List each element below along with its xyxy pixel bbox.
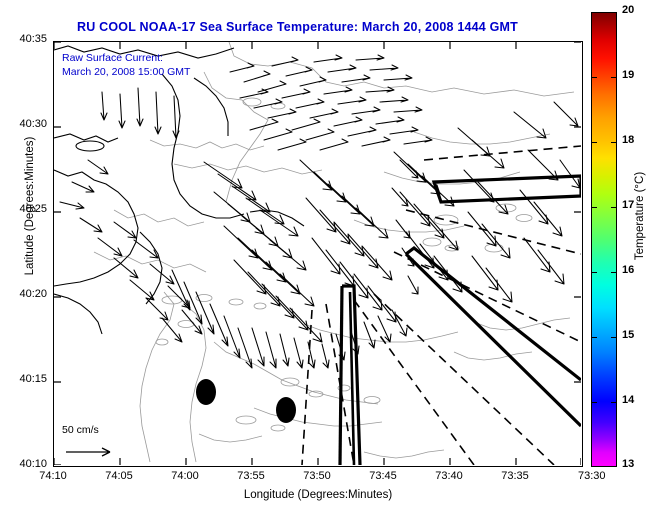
bathymetry-contours: [94, 42, 574, 462]
xtick-label: 73:30: [578, 470, 612, 482]
colorbar-tick-label: 15: [622, 329, 634, 341]
scale-key-label: 50 cm/s: [62, 424, 99, 436]
colorbar-label: Temperature (°C): [634, 136, 646, 296]
figure-title: RU COOL NOAA-17 Sea Surface Temperature:…: [0, 20, 595, 34]
xtick-label: 73:35: [485, 470, 545, 482]
lane-center-lines: [350, 292, 354, 465]
map-graphics: [54, 42, 581, 465]
colorbar-tick-label: 13: [622, 458, 634, 470]
colorbar-tick-label: 14: [622, 394, 634, 406]
colorbar-tick-label: 20: [622, 4, 634, 16]
xtick-label: 73:45: [353, 470, 413, 482]
x-axis-label: Longitude (Degrees:Minutes): [53, 489, 583, 501]
xtick-label: 74:10: [23, 470, 83, 482]
xtick-label: 73:50: [287, 470, 347, 482]
colorbar-tick-label: 16: [622, 264, 634, 276]
colorbar-tick-label: 17: [622, 199, 634, 211]
ytick-label: 40:15: [0, 373, 47, 385]
scale-key: 50 cm/s: [62, 424, 154, 464]
station-marker-2: [276, 397, 296, 423]
xtick-label: 73:55: [221, 470, 281, 482]
map-axes[interactable]: Raw Surface Current: March 20, 2008 15:0…: [53, 41, 583, 467]
xtick-label: 74:00: [155, 470, 215, 482]
xtick-label: 74:05: [89, 470, 149, 482]
figure-canvas: RU COOL NOAA-17 Sea Surface Temperature:…: [0, 0, 651, 518]
colorbar-tick-label: 18: [622, 134, 634, 146]
ytick-label: 40:10: [0, 458, 47, 470]
axis-ticks-inner: [54, 42, 581, 465]
colorbar-tick-label: 19: [622, 69, 634, 81]
y-axis-label: Latitude (Degrees:Minutes): [24, 96, 36, 316]
annotation-line-2: March 20, 2008 15:00 GMT: [62, 66, 190, 78]
right-arrow-icon: [64, 442, 134, 462]
cloud-blobs: [156, 98, 532, 431]
annotation-line-1: Raw Surface Current:: [62, 52, 163, 64]
station-marker-1: [196, 379, 216, 405]
xtick-label: 73:40: [419, 470, 479, 482]
ytick-label: 40:35: [0, 33, 47, 45]
colorbar[interactable]: [591, 12, 617, 467]
